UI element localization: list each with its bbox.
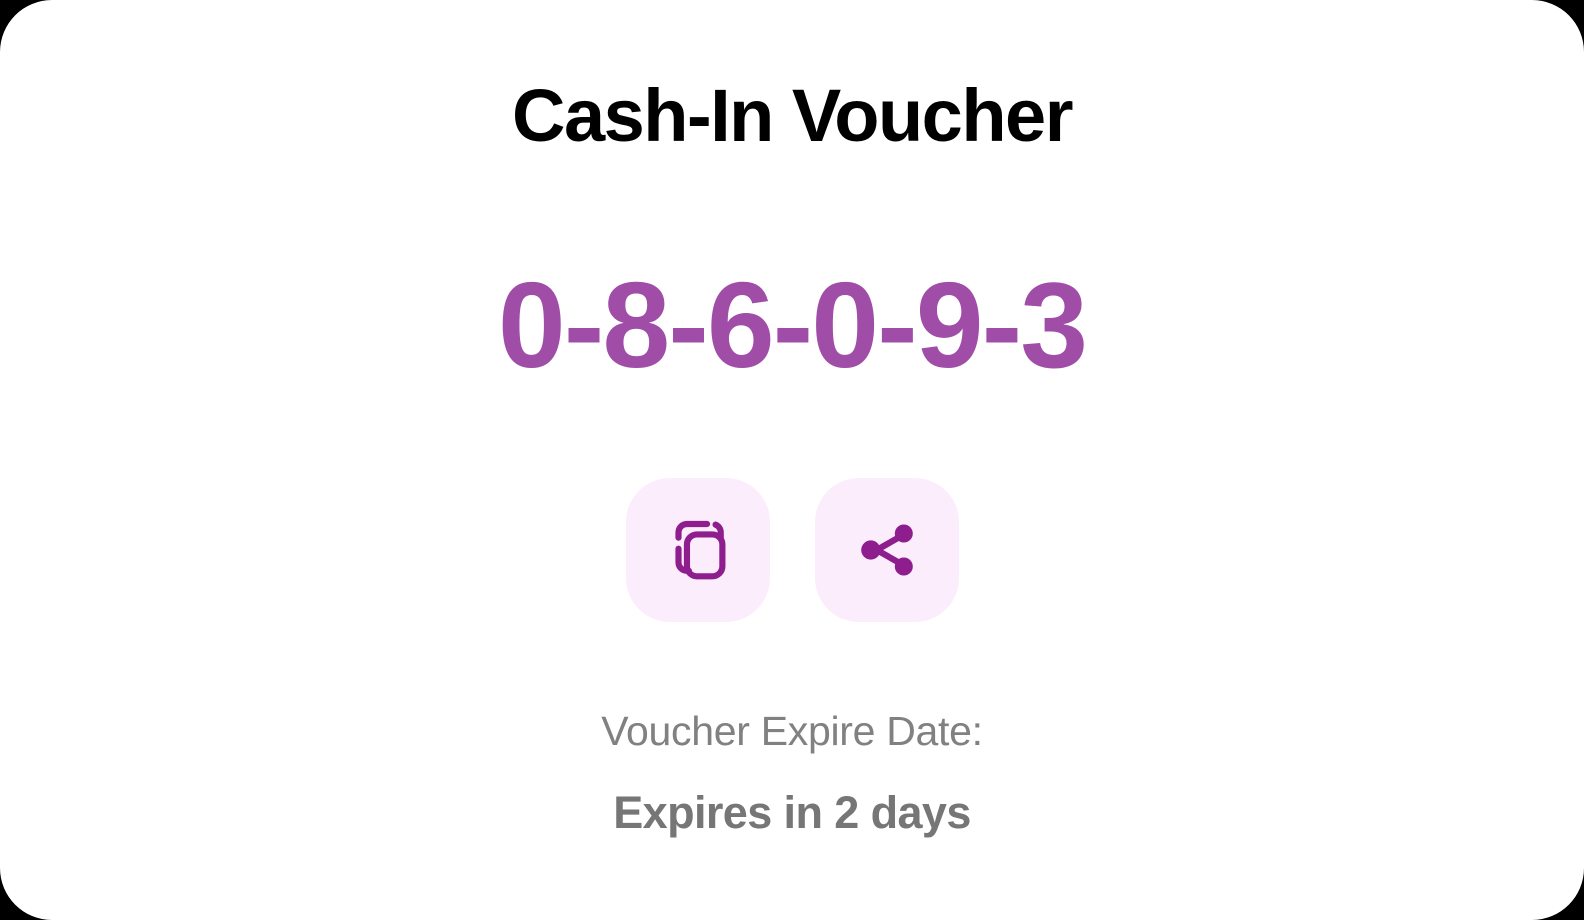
voucher-expiry: Voucher Expire Date: Expires in 2 days [0, 700, 1584, 844]
expiry-label: Voucher Expire Date: [0, 700, 1584, 762]
copy-icon [659, 511, 737, 589]
expiry-value: Expires in 2 days [0, 782, 1584, 844]
page-title: Cash-In Voucher [0, 68, 1584, 164]
voucher-actions [0, 478, 1584, 622]
voucher-card: Cash-In Voucher 0-8-6-0-9-3 [0, 0, 1584, 920]
share-icon [851, 514, 923, 586]
voucher-code[interactable]: 0-8-6-0-9-3 [0, 258, 1584, 392]
copy-voucher-button[interactable] [626, 478, 770, 622]
share-voucher-button[interactable] [815, 478, 959, 622]
